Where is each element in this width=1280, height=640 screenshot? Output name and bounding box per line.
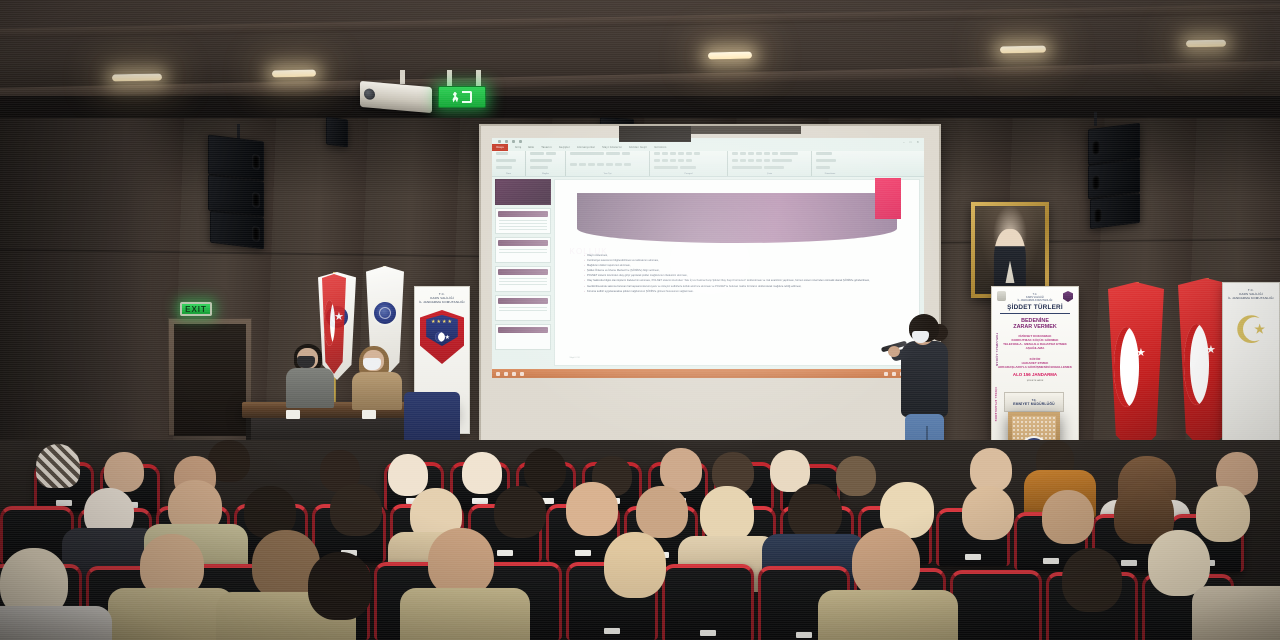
seat-number-tag (1043, 558, 1059, 564)
running-man-icon (452, 92, 459, 103)
panelist-seated-1 (286, 344, 334, 406)
audience-head (308, 552, 372, 620)
lectern-line-2: EMNİYET MÜDÜRLÜĞÜ (1013, 402, 1055, 406)
audience-head (428, 528, 494, 596)
ribbon-group-label: Slaytlar (530, 173, 561, 175)
seat[interactable] (950, 570, 1042, 640)
slide-bullet: ›Mağdurun doktor raporunun alınması, (584, 264, 901, 267)
ceiling-light (708, 52, 752, 60)
tab-transitions[interactable]: Geçişler (559, 146, 570, 149)
small-speaker (326, 116, 348, 147)
reading-icon[interactable] (512, 372, 516, 376)
ribbon-tabs[interactable]: Dosya Giriş Ekle Tasarım Geçişler Animas… (492, 144, 924, 151)
audience-head (104, 452, 144, 492)
panelist-seated-2 (352, 346, 402, 408)
audience-head (566, 482, 618, 536)
slide-thumbnail[interactable]: 2 (495, 208, 551, 234)
tab-view[interactable]: Görünüm (654, 146, 666, 149)
projection-occlusion (619, 126, 691, 142)
audience-head (788, 484, 842, 540)
line-array-speaker (208, 135, 264, 182)
ribbon-group-label: Paragraf (654, 173, 723, 175)
poster-extra-item: ARKADAŞLARIYLA GÖRÜŞMESİNİ ENGELLEMEK (992, 365, 1078, 369)
crescent-icon (1184, 324, 1210, 405)
slide-bullet: ›Olay hakkında bilgisi olan kişilerin if… (584, 279, 901, 282)
audience-head (1148, 530, 1210, 596)
star-icon: ★ (334, 312, 344, 323)
seat-number-tag (575, 550, 591, 556)
emergency-sign-mount (447, 70, 452, 86)
ceiling-light (1000, 46, 1046, 54)
tab-file[interactable]: Dosya (492, 144, 508, 151)
ceiling-light (272, 70, 316, 78)
close-button[interactable]: ✕ (916, 140, 919, 144)
audience-head (388, 454, 428, 496)
audience-head (524, 448, 566, 492)
seat-number-tag (796, 632, 812, 638)
audience-head (462, 452, 502, 494)
line-array-speaker (1090, 193, 1140, 229)
ministry-logo-icon (997, 291, 1006, 301)
banner-org-line-3: İL JANDARMA KOMUTANLIĞI (1228, 296, 1273, 300)
tab-insert[interactable]: Ekle (528, 146, 534, 149)
tab-design[interactable]: Tasarım (541, 146, 552, 149)
poster-footer: ŞİDDETE HAYIR (992, 380, 1078, 382)
audience-head (962, 486, 1014, 540)
audience-head (1042, 490, 1094, 544)
tab-home[interactable]: Giriş (515, 146, 521, 149)
ribbon-group-drawing[interactable]: Çizim (728, 151, 812, 176)
projector-mount (400, 70, 405, 84)
ribbon-group-paragraph[interactable]: Paragraf (650, 151, 728, 176)
audience-torso (1192, 586, 1280, 640)
ribbon[interactable]: Pano Slaytlar Yazı Tipi Para (492, 151, 924, 177)
slide-bullet: ›POLNET sistemi üzerinden olay girişi ya… (584, 274, 901, 277)
ribbon-group-label: Düzenleme (816, 173, 844, 175)
list-icon[interactable] (504, 372, 508, 376)
slide-canvas[interactable]: KOLLUK ›Olayın önlenmesi, ›Cumhuriyet sa… (554, 179, 920, 366)
portrait-image (975, 206, 1045, 294)
poster-side-label-1: TOPLUMSAL AÇIDAN (994, 333, 998, 366)
auditorium-screenshot: EXIT – □ ✕ Dosya Giriş Ekle Tasar (0, 0, 1280, 640)
start-slideshow-icon[interactable] (519, 140, 522, 143)
crescent-icon (324, 300, 335, 346)
slide-thumbnail[interactable]: 5 (495, 295, 551, 321)
maximize-button[interactable]: □ (910, 140, 912, 144)
star-icon: ★ (1206, 345, 1216, 356)
slide-thumbnail-active[interactable]: 6 (495, 324, 551, 350)
poster-title: ŞİDDET TÜRLERİ (992, 304, 1078, 311)
ribbon-group-clipboard[interactable]: Pano (492, 151, 526, 176)
slide-bullet: ›Şiddet Önleme ve İzleme Merkezi'ne (ŞÖN… (584, 269, 901, 272)
exit-sign: EXIT (180, 302, 212, 316)
slide-bullet: ›Cumhuriyet savcısının bilgilendirilmesi… (584, 259, 901, 262)
minimize-button[interactable]: – (903, 140, 905, 144)
poster-divider (1000, 313, 1070, 314)
poster-side-label-2: CİNSEL EYLEMLERDE (994, 387, 997, 422)
slide-thumbnail[interactable]: 4 (495, 266, 551, 292)
status-bar[interactable] (492, 369, 924, 378)
seat-number-tag (700, 630, 716, 636)
projection-screen: – □ ✕ Dosya Giriş Ekle Tasarım Geçişler … (479, 124, 941, 450)
ceiling-light (1186, 40, 1226, 48)
ribbon-group-label: Çizim (732, 173, 807, 175)
audience-torso (0, 606, 112, 640)
face-mask (363, 358, 381, 370)
star-icon: ★ (1136, 348, 1146, 359)
slide-bullet: ›Koruma tedbiri uygulanacaksa şiddet mağ… (584, 290, 901, 293)
audience-torso-camouflage (818, 590, 958, 640)
slide-title-banner (577, 193, 897, 243)
window-controls[interactable]: – □ ✕ (903, 140, 919, 144)
lectern-top-sign: T.C. EMNİYET MÜDÜRLÜĞÜ (1004, 392, 1064, 412)
audience-head (330, 484, 382, 536)
ceiling-light (112, 74, 162, 82)
tab-slideshow[interactable]: Slayt Gösterisi (602, 146, 622, 149)
speaker-bracket (1094, 112, 1097, 126)
powerpoint-window[interactable]: – □ ✕ Dosya Giriş Ekle Tasarım Geçişler … (492, 138, 924, 378)
jandarma-emblem-icon: ★★★★ ★ (420, 310, 464, 364)
torso (286, 368, 334, 408)
slide-footer: Slayt 6 / 18 (570, 357, 580, 359)
audience-torso-camouflage (400, 588, 530, 640)
crescent-icon (1114, 327, 1140, 407)
emergency-sign-mount (476, 70, 481, 86)
tab-animations[interactable]: Animasyonlar (577, 146, 595, 149)
torso (352, 372, 402, 410)
slide-accent-rectangle (875, 178, 900, 219)
slide-thumbnail[interactable]: 3 (495, 237, 551, 263)
face-mask (297, 356, 315, 368)
seat-number-tag (604, 628, 620, 634)
name-card (362, 410, 376, 419)
police-seal-icon (372, 300, 398, 326)
seat-number-tag (965, 554, 981, 560)
slide-thumbnail[interactable]: 1 (495, 179, 551, 205)
audience-head (700, 486, 754, 542)
audience-head (1196, 486, 1250, 542)
seat[interactable] (662, 564, 754, 640)
poster-hotline: ALO 156 JANDARMA (992, 372, 1078, 377)
emergency-exit-sign (438, 86, 486, 108)
quick-access-toolbar[interactable] (498, 140, 522, 143)
seat-number-tag (497, 550, 513, 556)
slide-bullet: ›Geciktirilmesinde sakınca bulunan hal k… (584, 285, 901, 288)
ataturk-portrait (971, 202, 1049, 298)
audience-head (836, 456, 876, 496)
side-wall-left (0, 118, 180, 478)
ribbon-group-label: Yazı Tipi (570, 173, 645, 175)
slideshow-icon[interactable] (520, 372, 524, 376)
ribbon-group-editing[interactable]: Düzenleme (812, 151, 848, 176)
slide-bullet: ›Olayın önlenmesi, (584, 254, 901, 257)
poster-subtitle-2: ZARAR VERMEK (992, 324, 1078, 330)
turkish-flag: ★ (1108, 282, 1164, 456)
audience-head (1062, 548, 1122, 612)
notes-icon[interactable] (884, 372, 888, 376)
audience-head (494, 486, 546, 538)
audience-head (604, 532, 666, 598)
tab-review[interactable]: Gözden Geçir (629, 146, 647, 149)
banner-org-line-3: İL JANDARMA KOMUTANLIĞI (419, 300, 464, 304)
projector-lens (364, 88, 375, 100)
name-card (286, 410, 300, 419)
audience-head (852, 528, 920, 598)
ribbon-group-font[interactable]: Yazı Tipi (566, 151, 650, 176)
door[interactable] (174, 324, 246, 436)
poster-item: AŞAĞILAMA (992, 346, 1078, 350)
seat-number-tag (1121, 560, 1137, 566)
crescent-star-emblem-icon: ☪ (1234, 316, 1268, 346)
undo-icon[interactable] (505, 140, 508, 143)
headscarf (36, 444, 80, 488)
audience-head (636, 486, 688, 538)
redo-icon[interactable] (512, 140, 515, 143)
projection-occlusion (691, 126, 801, 134)
slide-bullet-list: ›Olayın önlenmesi, ›Cumhuriyet savcısını… (584, 254, 901, 295)
ribbon-group-slides[interactable]: Slaytlar (526, 151, 566, 176)
slide-thumbnail-panel[interactable]: 1 2 3 4 (495, 179, 551, 368)
save-icon[interactable] (498, 140, 501, 143)
door-arrow-icon (462, 91, 472, 103)
ribbon-group-label: Pano (496, 173, 521, 175)
grid-icon[interactable] (496, 372, 500, 376)
line-array-speaker (210, 211, 264, 250)
exit-sign-label: EXIT (185, 305, 207, 314)
